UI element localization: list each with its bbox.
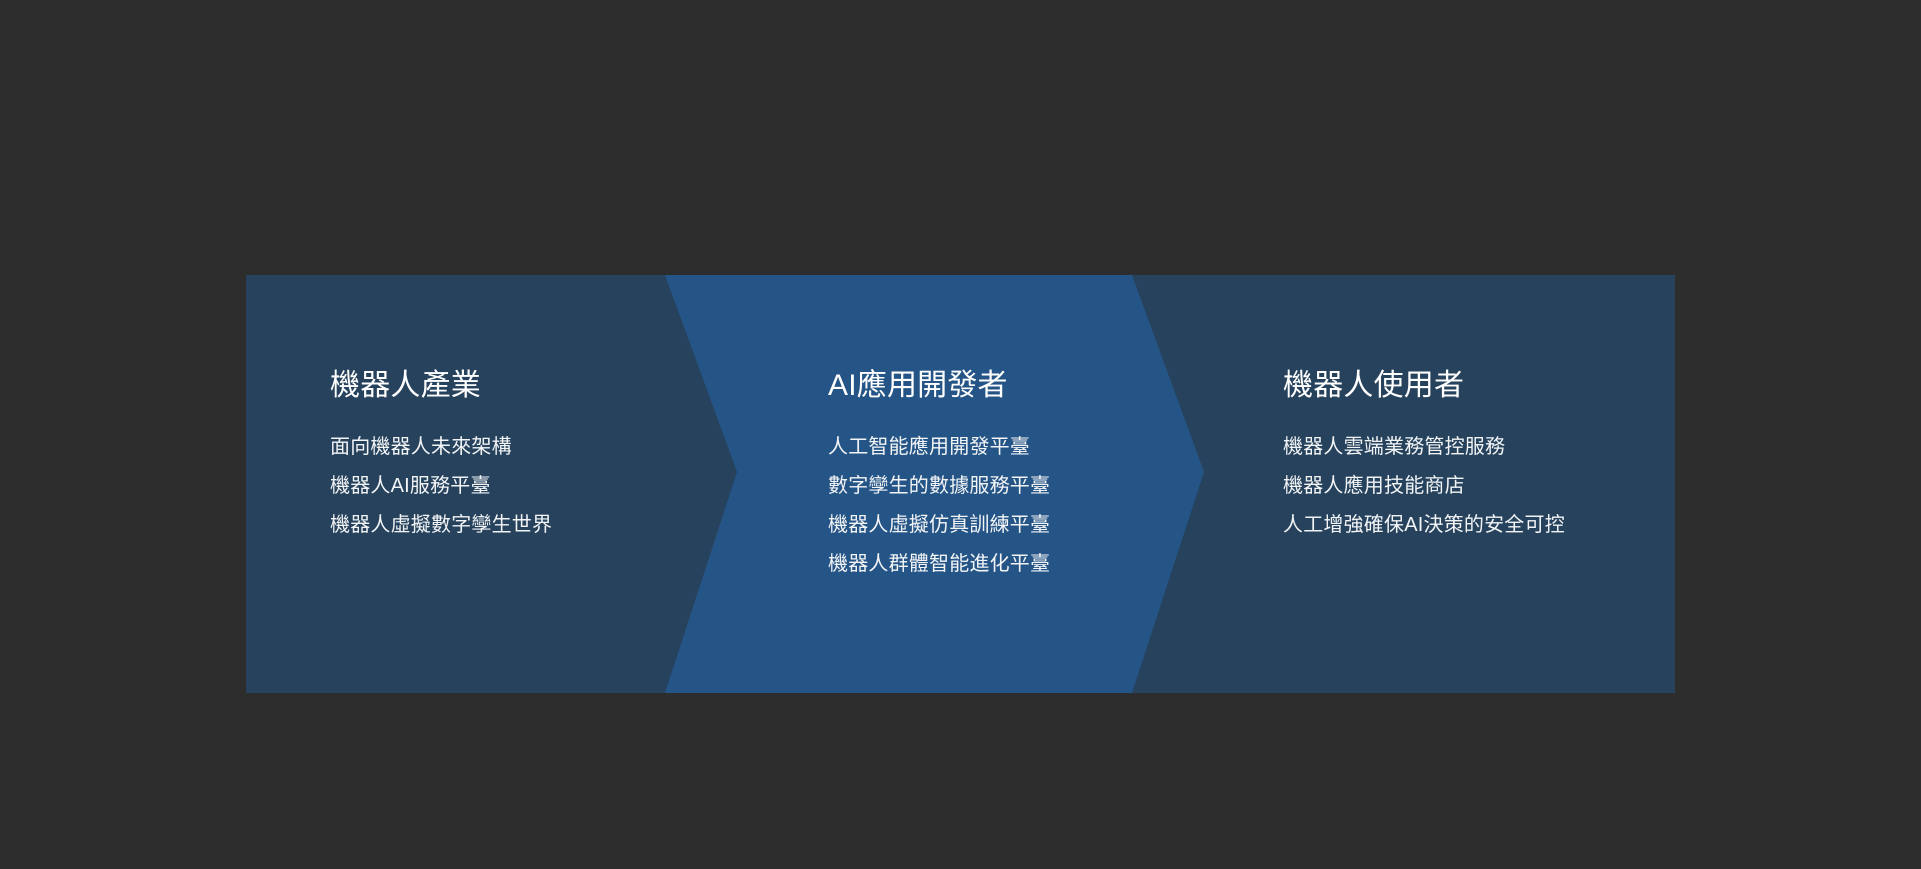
column-item-list: 機器人雲端業務管控服務 機器人應用技能商店 人工增強確保AI決策的安全可控 — [1283, 428, 1565, 545]
column-heading: 機器人產業 — [330, 368, 481, 403]
list-item: 機器人虛擬數字孿生世界 — [330, 506, 552, 545]
column-robot-user: 機器人使用者 機器人雲端業務管控服務 機器人應用技能商店 人工增強確保AI決策的… — [1283, 275, 1675, 693]
column-robot-industry: 機器人產業 面向機器人未來架構 機器人AI服務平臺 機器人虛擬數字孿生世界 — [330, 275, 710, 693]
list-item: 機器人群體智能進化平臺 — [828, 545, 1050, 584]
column-group: 機器人產業 面向機器人未來架構 機器人AI服務平臺 機器人虛擬數字孿生世界 AI… — [246, 275, 1675, 693]
list-item: 機器人AI服務平臺 — [330, 467, 552, 506]
list-item: 機器人應用技能商店 — [1283, 467, 1565, 506]
list-item: 機器人雲端業務管控服務 — [1283, 428, 1565, 467]
column-item-list: 人工智能應用開發平臺 數字孿生的數據服務平臺 機器人虛擬仿真訓練平臺 機器人群體… — [828, 428, 1050, 584]
list-item: 機器人虛擬仿真訓練平臺 — [828, 506, 1050, 545]
three-stage-chevron-banner: 機器人產業 面向機器人未來架構 機器人AI服務平臺 機器人虛擬數字孿生世界 AI… — [246, 275, 1675, 693]
column-heading: AI應用開發者 — [828, 368, 1008, 403]
column-ai-app-developer: AI應用開發者 人工智能應用開發平臺 數字孿生的數據服務平臺 機器人虛擬仿真訓練… — [828, 275, 1228, 693]
column-item-list: 面向機器人未來架構 機器人AI服務平臺 機器人虛擬數字孿生世界 — [330, 428, 552, 545]
list-item: 面向機器人未來架構 — [330, 428, 552, 467]
list-item: 人工智能應用開發平臺 — [828, 428, 1050, 467]
column-heading: 機器人使用者 — [1283, 368, 1464, 403]
list-item: 人工增強確保AI決策的安全可控 — [1283, 506, 1565, 545]
list-item: 數字孿生的數據服務平臺 — [828, 467, 1050, 506]
